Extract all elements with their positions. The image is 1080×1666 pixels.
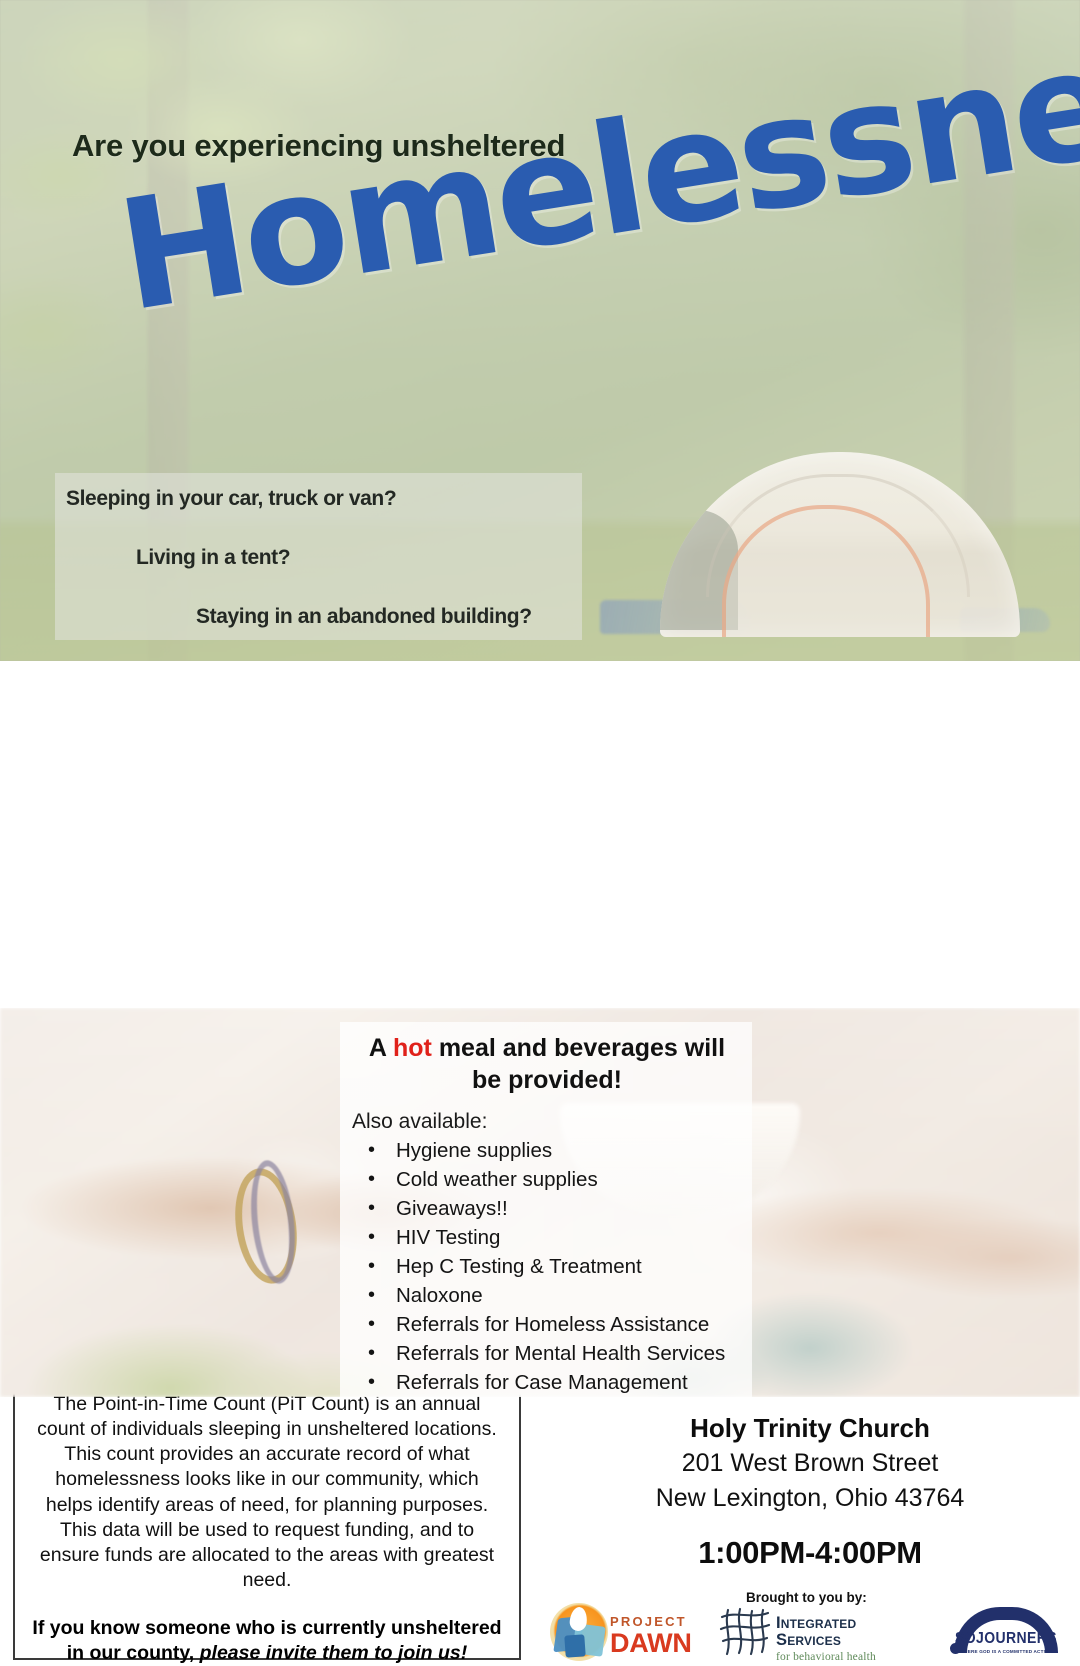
services-list: •Hygiene supplies•Cold weather supplies•… <box>352 1136 816 1397</box>
service-item-label: Naloxone <box>396 1284 483 1307</box>
dawn-shape-darkblue <box>564 1634 585 1657</box>
meal-announcement: A hot meal and beverages will be provide… <box>352 1032 742 1096</box>
service-item-label: Cold weather supplies <box>396 1168 598 1191</box>
service-item-label: Hygiene supplies <box>396 1139 552 1162</box>
project-dawn-line1: PROJECT <box>610 1615 692 1628</box>
bullet-icon: • <box>368 1281 375 1309</box>
service-item-label: Hep C Testing & Treatment <box>396 1255 642 1278</box>
project-dawn-line2: DAWN <box>610 1630 692 1657</box>
integrated-services-name: Integrated Services <box>776 1615 918 1648</box>
project-dawn-wordmark: PROJECT DAWN <box>610 1615 692 1657</box>
bullet-icon: • <box>368 1194 375 1222</box>
integrated-services-wordmark: Integrated Services for behavioral healt… <box>776 1615 918 1664</box>
event-time: 1:00PM-4:00PM <box>540 1535 1080 1571</box>
also-available-label: Also available: <box>352 1110 487 1134</box>
sojourners-wordmark: SOJOURNERS <box>946 1628 1066 1646</box>
service-item-label: Referrals for Homeless Assistance <box>396 1313 709 1336</box>
event-address-line2: New Lexington, Ohio 43764 <box>540 1483 1080 1514</box>
service-item: •Hep C Testing & Treatment <box>396 1252 816 1281</box>
bullet-icon: • <box>368 1252 375 1280</box>
infobox-body: The Point-in-Time Count (PiT Count) is a… <box>31 1392 503 1593</box>
service-item: •Hygiene supplies <box>396 1136 816 1165</box>
meal-hot-highlight: hot <box>393 1034 432 1062</box>
woven-mark-icon <box>718 1607 772 1657</box>
meal-text-pre: A <box>369 1034 393 1062</box>
service-item-label: Referrals for Mental Health Services <box>396 1342 725 1365</box>
project-dawn-logo: PROJECT DAWN <box>548 1601 698 1663</box>
sponsor-logos: PROJECT DAWN Integrated Services for beh… <box>540 1599 1080 1665</box>
bullet-icon: • <box>368 1368 375 1396</box>
bullet-icon: • <box>368 1310 375 1338</box>
service-item: •Naloxone <box>396 1281 816 1310</box>
service-item-label: Referrals for Case Management <box>396 1371 688 1394</box>
integrated-services-logo: Integrated Services for behavioral healt… <box>718 1605 918 1659</box>
event-address-line1: 201 West Brown Street <box>540 1448 1080 1479</box>
details-section: Everyone Counts! The Point-in-Time Count… <box>0 661 1080 1008</box>
event-venue: Holy Trinity Church <box>540 1413 1080 1444</box>
infobox-cta-italic: please invite them to join us! <box>200 1642 468 1664</box>
service-item: •Referrals for Homeless Assistance <box>396 1310 816 1339</box>
meal-text-post: meal and beverages will be provided! <box>432 1034 725 1094</box>
infobox-cta: If you know someone who is currently uns… <box>31 1616 503 1666</box>
service-item-label: HIV Testing <box>396 1226 500 1249</box>
bullet-icon: • <box>368 1223 375 1251</box>
hero-section: Are you experiencing unsheltered Homeles… <box>0 0 1080 661</box>
question-abandoned-building: Staying in an abandoned building? <box>196 605 532 629</box>
service-item: •Referrals for Case Management <box>396 1368 816 1397</box>
sojourners-logo: SOJOURNERS WHERE GOD IS A COMMITTED ACTI… <box>940 1599 1070 1665</box>
bullet-icon: • <box>368 1136 375 1164</box>
service-item: •Referrals for Mental Health Services <box>396 1339 816 1368</box>
integrated-services-tagline: for behavioral health <box>776 1652 918 1664</box>
sojourners-tagline: WHERE GOD IS A COMMITTED ACTION <box>954 1649 1058 1654</box>
question-living-in-tent: Living in a tent? <box>136 546 290 570</box>
question-sleeping-in-vehicle: Sleeping in your car, truck or van? <box>66 487 396 511</box>
bullet-icon: • <box>368 1165 375 1193</box>
service-item-label: Giveaways!! <box>396 1197 508 1220</box>
service-item: •HIV Testing <box>396 1223 816 1252</box>
service-item: •Giveaways!! <box>396 1194 816 1223</box>
service-item: •Cold weather supplies <box>396 1165 816 1194</box>
bullet-icon: • <box>368 1339 375 1367</box>
